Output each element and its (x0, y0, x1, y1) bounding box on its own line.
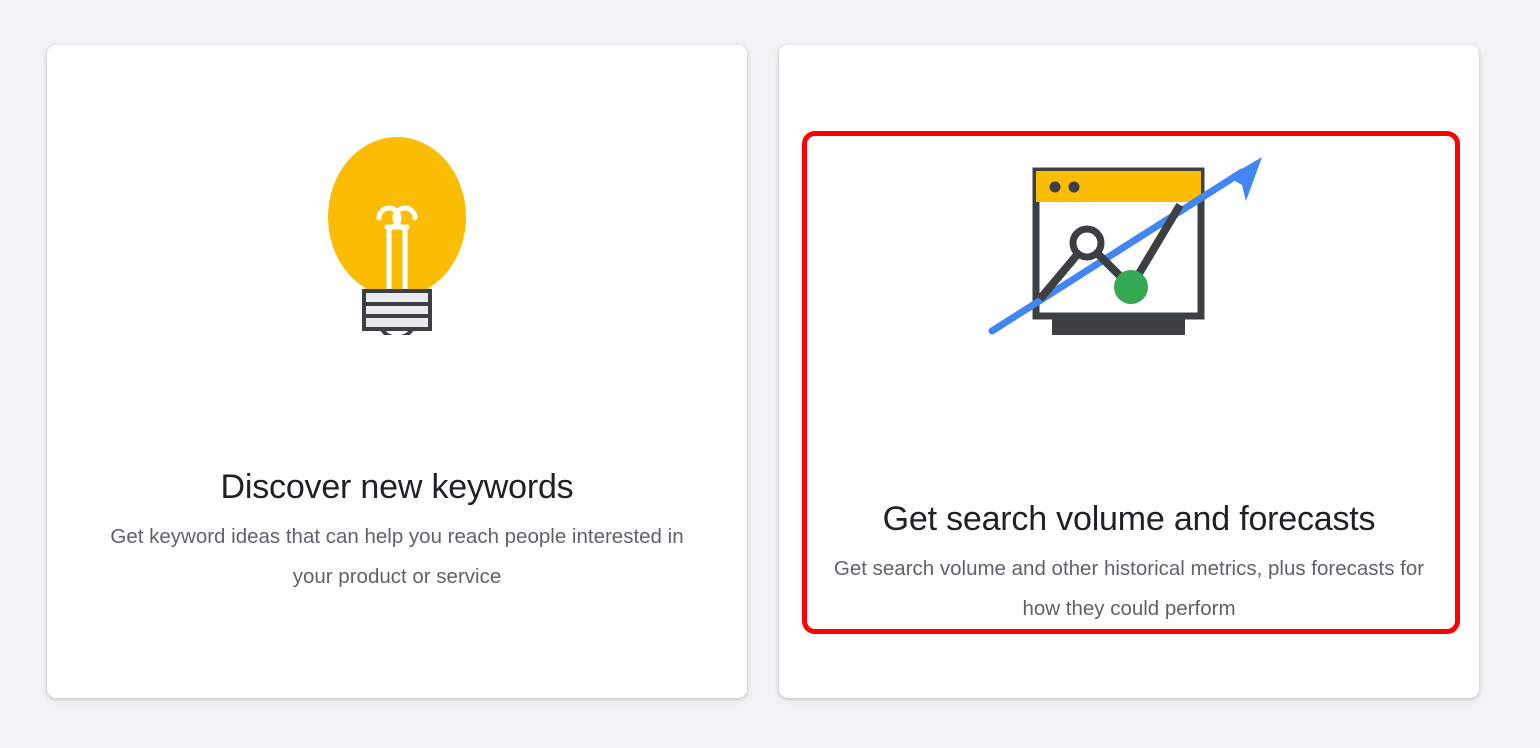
window-dot-left (1050, 182, 1061, 193)
trend-arrowhead (1228, 157, 1262, 201)
card-title: Get search volume and forecasts (805, 497, 1453, 541)
data-point-filled (1114, 270, 1148, 304)
forecast-chart-window-icon-area (779, 45, 1479, 497)
options-screen: Discover new keywords Get keyword ideas … (0, 0, 1540, 748)
data-point-hollow (1073, 229, 1101, 257)
card-subtitle: Get keyword ideas that can help you reac… (97, 517, 697, 597)
card-discover-text: Discover new keywords Get keyword ideas … (47, 465, 747, 597)
lightbulb-icon (324, 135, 470, 335)
card-get-search-volume-and-forecasts[interactable]: Get search volume and forecasts Get sear… (779, 45, 1479, 698)
card-forecast-text: Get search volume and forecasts Get sear… (779, 497, 1479, 629)
lightbulb-icon-area (47, 45, 747, 465)
forecast-chart-window-icon (984, 135, 1274, 335)
card-title: Discover new keywords (73, 465, 721, 509)
card-discover-new-keywords[interactable]: Discover new keywords Get keyword ideas … (47, 45, 747, 698)
window-stand (1052, 316, 1185, 335)
card-subtitle: Get search volume and other historical m… (814, 549, 1444, 629)
window-dot-right (1069, 182, 1080, 193)
